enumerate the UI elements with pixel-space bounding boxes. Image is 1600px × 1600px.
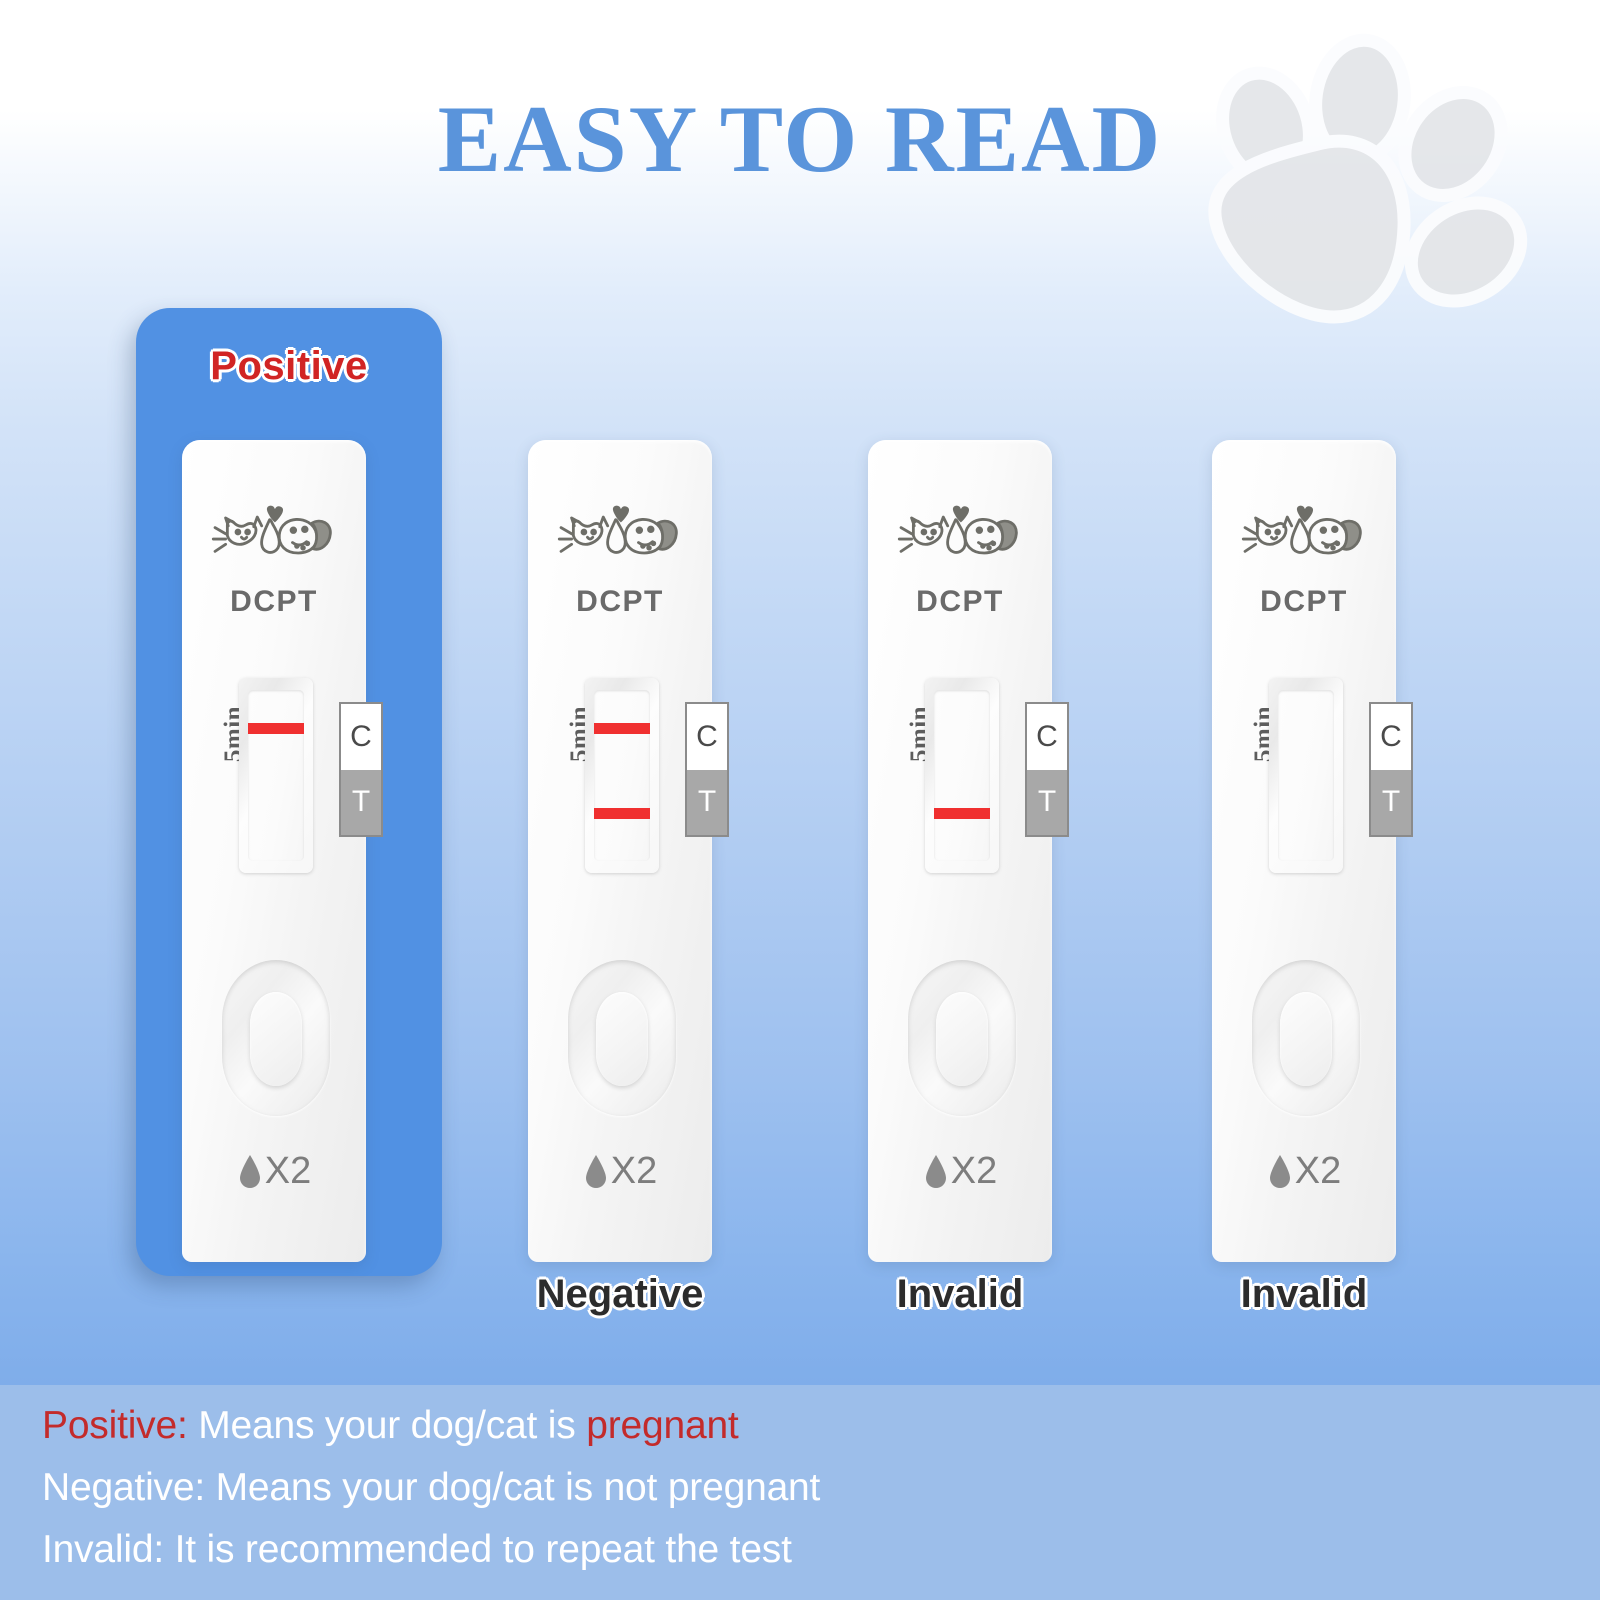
legend-line-positive: Positive: Means your dog/cat is pregnant <box>42 1404 739 1448</box>
poster-canvas: EASY TO READ Positive <box>0 0 1600 1600</box>
legend-band: Positive: Means your dog/cat is pregnant… <box>0 1385 1600 1600</box>
control-marker: C <box>1371 704 1411 770</box>
sample-well <box>222 960 330 1116</box>
ct-indicator: C T <box>339 702 383 837</box>
drop-count-indicator: X2 <box>1212 1150 1396 1193</box>
sample-well-inner <box>596 992 648 1086</box>
legend-key-negative: Negative: <box>42 1466 205 1509</box>
test-marker: T <box>1027 770 1067 836</box>
card-brand-label: DCPT <box>1212 585 1396 619</box>
result-window-inner <box>594 690 650 861</box>
result-window <box>925 678 999 873</box>
control-line-band <box>248 723 304 734</box>
water-drop-icon <box>923 1153 949 1191</box>
legend-line-negative: Negative: Means your dog/cat is not preg… <box>42 1466 820 1510</box>
test-cassette-positive[interactable]: DCPT 5min C T X2 <box>182 440 366 1262</box>
legend-body-positive-em: pregnant <box>586 1404 738 1447</box>
test-cassette-negative[interactable]: DCPT 5min C T X2 <box>528 440 712 1262</box>
result-window <box>585 678 659 873</box>
card-brand-label: DCPT <box>182 585 366 619</box>
result-caption-negative: Negative <box>470 1272 770 1317</box>
drop-count-label: X2 <box>951 1150 997 1193</box>
ct-indicator: C T <box>1369 702 1413 837</box>
legend-body-invalid: It is recommended to repeat the test <box>164 1528 792 1571</box>
result-caption-invalid-1: Invalid <box>810 1272 1110 1317</box>
test-marker: T <box>341 770 381 836</box>
drop-count-label: X2 <box>265 1150 311 1193</box>
sample-well-inner <box>936 992 988 1086</box>
water-drop-icon <box>583 1153 609 1191</box>
drop-count-indicator: X2 <box>528 1150 712 1193</box>
paw-print-icon <box>1168 22 1588 340</box>
test-cassette-invalid-2[interactable]: DCPT 5min C T X2 <box>1212 440 1396 1262</box>
result-window-inner <box>1278 690 1334 861</box>
ct-indicator: C T <box>1025 702 1069 837</box>
drop-count-label: X2 <box>1295 1150 1341 1193</box>
sample-well <box>1252 960 1360 1116</box>
control-marker: C <box>341 704 381 770</box>
sample-well-inner <box>1280 992 1332 1086</box>
result-window <box>1269 678 1343 873</box>
sample-well-inner <box>250 992 302 1086</box>
legend-body-positive-pre: Means your dog/cat is <box>188 1404 587 1447</box>
result-window <box>239 678 313 873</box>
result-window-inner <box>248 690 304 861</box>
cat-dog-heart-logo <box>1212 492 1396 572</box>
drop-count-indicator: X2 <box>868 1150 1052 1193</box>
drop-count-label: X2 <box>611 1150 657 1193</box>
water-drop-icon <box>237 1153 263 1191</box>
test-marker: T <box>687 770 727 836</box>
cat-dog-heart-logo <box>182 492 366 572</box>
test-line-band <box>934 808 990 819</box>
legend-key-positive: Positive: <box>42 1404 188 1447</box>
sample-well <box>568 960 676 1116</box>
legend-body-negative: Means your dog/cat is not pregnant <box>205 1466 820 1509</box>
cat-dog-heart-logo <box>528 492 712 572</box>
test-line-band <box>594 808 650 819</box>
sample-well <box>908 960 1016 1116</box>
card-brand-label: DCPT <box>868 585 1052 619</box>
control-marker: C <box>1027 704 1067 770</box>
result-caption-invalid-2: Invalid <box>1154 1272 1454 1317</box>
legend-key-invalid: Invalid: <box>42 1528 164 1571</box>
card-brand-label: DCPT <box>528 585 712 619</box>
positive-label: Positive <box>136 344 442 389</box>
drop-count-indicator: X2 <box>182 1150 366 1193</box>
test-cassette-invalid-1[interactable]: DCPT 5min C T X2 <box>868 440 1052 1262</box>
water-drop-icon <box>1267 1153 1293 1191</box>
result-window-inner <box>934 690 990 861</box>
control-marker: C <box>687 704 727 770</box>
cat-dog-heart-logo <box>868 492 1052 572</box>
ct-indicator: C T <box>685 702 729 837</box>
legend-line-invalid: Invalid: It is recommended to repeat the… <box>42 1528 792 1572</box>
control-line-band <box>594 723 650 734</box>
test-marker: T <box>1371 770 1411 836</box>
